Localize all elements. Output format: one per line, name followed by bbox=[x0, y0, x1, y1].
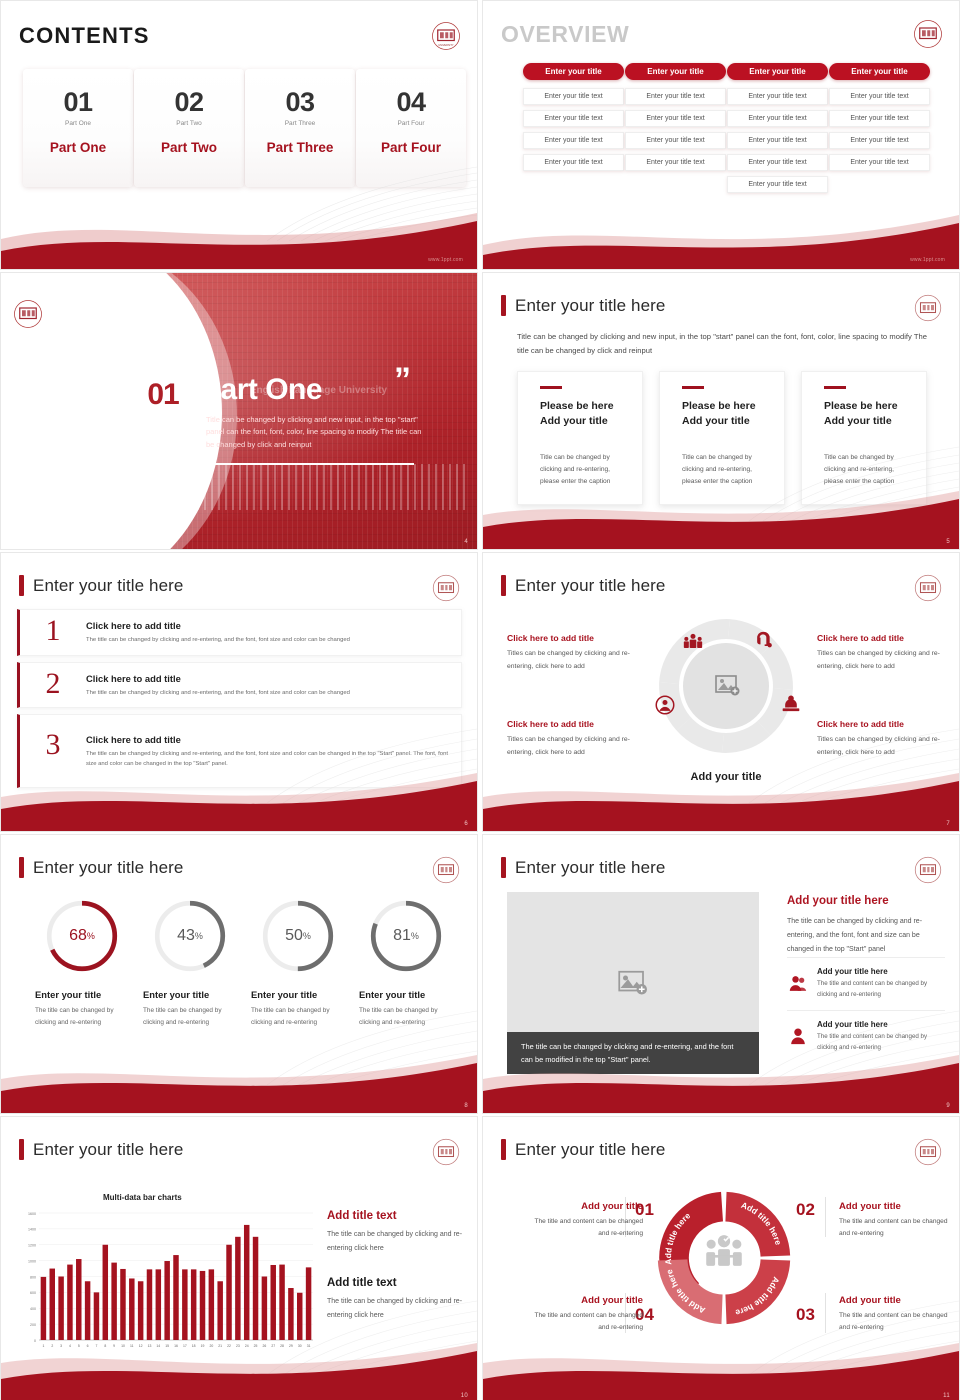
page-title: Enter your title here bbox=[501, 857, 665, 878]
section-title: Part One bbox=[201, 373, 322, 407]
page-title: Enter your title here bbox=[19, 857, 183, 878]
university-seal-icon bbox=[431, 855, 461, 885]
callout-text: The title and content can be changed and… bbox=[525, 1310, 643, 1334]
side-list-heading: Add your title here bbox=[817, 1020, 945, 1029]
svg-text:0: 0 bbox=[34, 1339, 36, 1343]
bar bbox=[76, 1259, 81, 1340]
side-text-1: The title can be changed by clicking and… bbox=[327, 1228, 467, 1255]
title-text: Enter your title here bbox=[515, 1140, 665, 1160]
side-text-2: The title can be changed by clicking and… bbox=[327, 1295, 467, 1322]
card-number: 02 bbox=[174, 89, 203, 116]
list-item[interactable]: 3 Click here to add title The title can … bbox=[17, 714, 462, 788]
lead-paragraph: Title can be changed by clicking and new… bbox=[517, 330, 927, 358]
donut-caption: The title can be changed by clicking and… bbox=[143, 1005, 243, 1028]
bar bbox=[226, 1245, 231, 1340]
svg-text:13: 13 bbox=[148, 1344, 152, 1348]
section-number-badge: 01 bbox=[134, 370, 192, 420]
svg-text:1600: 1600 bbox=[28, 1212, 36, 1216]
card-label: Part One bbox=[50, 140, 106, 155]
bar bbox=[209, 1269, 214, 1340]
column-title-pill[interactable]: Enter your title bbox=[523, 63, 624, 80]
svg-text:3: 3 bbox=[60, 1344, 62, 1348]
card-body: Title can be changed by clicking and re-… bbox=[540, 452, 626, 489]
diagram-callout[interactable]: Click here to add title Titles can be ch… bbox=[507, 633, 647, 673]
card-accent-dash bbox=[540, 386, 562, 389]
bar bbox=[297, 1293, 302, 1340]
university-seal-icon bbox=[913, 855, 943, 885]
svg-text:400: 400 bbox=[30, 1307, 36, 1311]
donut-unit: % bbox=[411, 931, 419, 941]
item-number: 1 bbox=[20, 617, 86, 646]
donut-caption: The title can be changed by clicking and… bbox=[359, 1005, 459, 1028]
card-heading-line1: Please be here bbox=[682, 399, 768, 415]
side-list-item[interactable]: Add your title here The title and conten… bbox=[787, 957, 945, 1010]
page-title: OVERVIEW bbox=[501, 21, 629, 48]
bar bbox=[147, 1269, 152, 1340]
bar bbox=[182, 1269, 187, 1340]
donut-unit: % bbox=[303, 931, 311, 941]
overview-column: Enter your title Enter your title text E… bbox=[727, 63, 828, 193]
bar bbox=[191, 1269, 196, 1340]
overview-column: Enter your title Enter your title text E… bbox=[625, 63, 726, 193]
title-text: Enter your title here bbox=[33, 576, 183, 596]
svg-text:25: 25 bbox=[254, 1344, 258, 1348]
donut-value: 68% bbox=[43, 897, 121, 975]
callout-heading: Click here to add title bbox=[507, 633, 647, 643]
bar bbox=[288, 1288, 293, 1340]
side-heading-1: Add title text bbox=[327, 1210, 467, 1222]
item-heading: Click here to add title bbox=[86, 734, 451, 745]
cycle-callout[interactable]: Add your title The title and content can… bbox=[525, 1295, 643, 1334]
svg-text:1: 1 bbox=[42, 1344, 44, 1348]
card-heading-line2: Add your title bbox=[540, 414, 626, 430]
cycle-number-03: 03 bbox=[796, 1305, 815, 1325]
callout-text: Titles can be changed by clicking and re… bbox=[817, 734, 957, 759]
page-title: Enter your title here bbox=[19, 1139, 183, 1160]
overview-item[interactable]: Enter your title text bbox=[625, 154, 726, 171]
university-seal-icon bbox=[913, 293, 943, 323]
overview-item[interactable]: Enter your title text bbox=[829, 88, 930, 105]
svg-text:16: 16 bbox=[174, 1344, 178, 1348]
university-seal-icon bbox=[913, 1137, 943, 1167]
card-body: Title can be changed by clicking and re-… bbox=[682, 452, 768, 489]
card-heading-line1: Please be here bbox=[824, 399, 910, 415]
title-text: Enter your title here bbox=[33, 858, 183, 878]
bar bbox=[58, 1277, 63, 1341]
chart-side-text: Add title text The title can be changed … bbox=[327, 1210, 467, 1345]
university-seal-icon: UNIVERSITY bbox=[431, 21, 461, 51]
overview-item[interactable]: Enter your title text bbox=[829, 154, 930, 171]
page-number: 8 bbox=[464, 1103, 468, 1109]
underline-rule bbox=[206, 463, 414, 465]
slide-contents: CONTENTS UNIVERSITY 01 Part One Part One… bbox=[0, 0, 478, 270]
bar bbox=[244, 1225, 249, 1340]
side-title: Add your title here bbox=[787, 895, 945, 907]
slide-three-cards: Enter your title here Title can be chang… bbox=[482, 272, 960, 550]
overview-item[interactable]: Enter your title text bbox=[625, 88, 726, 105]
item-text: The title can be changed by clicking and… bbox=[86, 688, 451, 698]
side-lead: The title can be changed by clicking and… bbox=[787, 915, 945, 957]
slide-overview: OVERVIEW Enter your title Enter your tit… bbox=[482, 0, 960, 270]
card-heading-line2: Add your title bbox=[682, 414, 768, 430]
donut-value: 81% bbox=[367, 897, 445, 975]
svg-text:14: 14 bbox=[156, 1344, 160, 1348]
svg-text:27: 27 bbox=[271, 1344, 275, 1348]
campus-photo-background bbox=[57, 273, 477, 549]
contents-card[interactable]: 01 Part One Part One bbox=[23, 69, 133, 187]
image-caption-bar: The title can be changed by clicking and… bbox=[507, 1032, 759, 1074]
decorative-wave bbox=[483, 1329, 959, 1400]
card-number: 04 bbox=[396, 89, 425, 116]
bar bbox=[67, 1265, 72, 1340]
two-people-icon bbox=[787, 967, 809, 1001]
svg-text:30: 30 bbox=[298, 1344, 302, 1348]
donut-caption: The title can be changed by clicking and… bbox=[251, 1005, 351, 1028]
footer-watermark: www.1ppt.com bbox=[428, 257, 463, 263]
donut-chart-group: 68% Enter your title The title can be ch… bbox=[29, 897, 459, 1028]
svg-text:9: 9 bbox=[113, 1344, 115, 1348]
bar bbox=[103, 1245, 108, 1340]
card-label: Part Two bbox=[161, 140, 217, 155]
donut-unit: % bbox=[195, 931, 203, 941]
title-text: Enter your title here bbox=[515, 858, 665, 878]
side-list-heading: Add your title here bbox=[817, 967, 945, 976]
overview-columns: Enter your title Enter your title text E… bbox=[523, 63, 930, 193]
callout-text: The title and content can be changed and… bbox=[839, 1310, 957, 1334]
card-number: 01 bbox=[63, 89, 92, 116]
card-accent-dash bbox=[824, 386, 846, 389]
overview-item[interactable]: Enter your title text bbox=[523, 154, 624, 171]
decorative-wave bbox=[1, 1039, 477, 1113]
card-subtitle: Part Four bbox=[397, 120, 424, 127]
slide-image-and-list: Enter your title here The title can be c… bbox=[482, 834, 960, 1114]
donut-ring: 81% bbox=[367, 897, 445, 975]
bar bbox=[279, 1265, 284, 1340]
overview-column: Enter your title Enter your title text E… bbox=[523, 63, 624, 193]
title-text: Enter your title here bbox=[515, 576, 665, 596]
svg-text:24: 24 bbox=[245, 1344, 249, 1348]
donut-item[interactable]: 81% Enter your title The title can be ch… bbox=[353, 897, 459, 1028]
svg-text:1200: 1200 bbox=[28, 1244, 36, 1248]
donut-unit: % bbox=[87, 931, 95, 941]
bar bbox=[41, 1277, 46, 1340]
title-text: Enter your title here bbox=[515, 296, 665, 316]
diagram-callout[interactable]: Click here to add title Titles can be ch… bbox=[817, 633, 957, 673]
overview-item[interactable]: Enter your title text bbox=[829, 132, 930, 149]
slide-cycle-diagram: Enter your title here bbox=[482, 1116, 960, 1400]
segmented-ring-diagram bbox=[651, 611, 801, 761]
bar bbox=[156, 1269, 161, 1340]
page-number: 6 bbox=[464, 821, 468, 827]
callout-text: The title and content can be changed and… bbox=[525, 1216, 643, 1240]
svg-text:600: 600 bbox=[30, 1291, 36, 1295]
page-number: 5 bbox=[946, 539, 950, 545]
callout-text: Titles can be changed by clicking and re… bbox=[507, 734, 647, 759]
card-number: 03 bbox=[285, 89, 314, 116]
side-heading-2: Add title text bbox=[327, 1277, 467, 1289]
university-seal-icon bbox=[431, 1137, 461, 1167]
diagram-callout[interactable]: Click here to add title Titles can be ch… bbox=[507, 719, 647, 759]
university-seal-icon bbox=[431, 573, 461, 603]
donut-label: Enter your title bbox=[35, 989, 135, 1000]
divider-line bbox=[825, 1197, 826, 1237]
image-placeholder-icon bbox=[618, 970, 648, 996]
decorative-wave bbox=[1, 195, 477, 269]
card-label: Part Four bbox=[381, 140, 441, 155]
cycle-callout[interactable]: Add your title The title and content can… bbox=[525, 1201, 643, 1240]
svg-text:800: 800 bbox=[30, 1275, 36, 1279]
slide-section-divider: English Language University 01 Part One … bbox=[0, 272, 478, 550]
chart-title: Multi-data bar charts bbox=[103, 1193, 182, 1202]
page-title: Enter your title here bbox=[501, 575, 665, 596]
callout-heading: Click here to add title bbox=[507, 719, 647, 729]
decorative-wave bbox=[483, 195, 959, 269]
decorative-wave bbox=[483, 757, 959, 831]
item-heading: Click here to add title bbox=[86, 673, 451, 684]
page-title: Enter your title here bbox=[501, 295, 665, 316]
cycle-arrow-diagram: Add title here Add title here Add title … bbox=[645, 1179, 803, 1337]
university-seal-icon bbox=[913, 573, 943, 603]
svg-text:23: 23 bbox=[236, 1344, 240, 1348]
title-accent-bar bbox=[19, 857, 24, 878]
section-number: 01 bbox=[147, 378, 178, 412]
donut-label: Enter your title bbox=[143, 989, 243, 1000]
slide-circular-diagram: Enter your title here bbox=[482, 552, 960, 832]
overview-item[interactable]: Enter your title text bbox=[625, 110, 726, 127]
svg-text:UNIVERSITY: UNIVERSITY bbox=[438, 43, 454, 47]
page-number: 4 bbox=[464, 539, 468, 545]
callout-text: The title and content can be changed and… bbox=[839, 1216, 957, 1240]
svg-text:6: 6 bbox=[87, 1344, 89, 1348]
svg-text:200: 200 bbox=[30, 1323, 36, 1327]
donut-number: 81 bbox=[393, 927, 411, 945]
bar bbox=[270, 1265, 275, 1340]
svg-text:5: 5 bbox=[78, 1344, 80, 1348]
svg-text:17: 17 bbox=[183, 1344, 187, 1348]
university-seal-icon bbox=[913, 19, 943, 49]
overview-item[interactable]: Enter your title text bbox=[829, 110, 930, 127]
svg-text:1000: 1000 bbox=[28, 1259, 36, 1263]
overview-item[interactable]: Enter your title text bbox=[727, 154, 828, 171]
donut-number: 68 bbox=[69, 927, 87, 945]
column-title-pill[interactable]: Enter your title bbox=[829, 63, 930, 80]
bar bbox=[50, 1269, 55, 1340]
svg-text:20: 20 bbox=[209, 1344, 213, 1348]
page-number: 9 bbox=[946, 1103, 950, 1109]
university-seal-icon bbox=[13, 299, 43, 329]
donut-item[interactable]: 50% Enter your title The title can be ch… bbox=[245, 897, 351, 1028]
overview-item[interactable]: Enter your title text bbox=[727, 132, 828, 149]
single-person-icon bbox=[787, 1020, 809, 1054]
bar bbox=[94, 1292, 99, 1340]
svg-text:10: 10 bbox=[121, 1344, 125, 1348]
donut-value: 43% bbox=[151, 897, 229, 975]
svg-text:31: 31 bbox=[307, 1344, 311, 1348]
item-body: Click here to add title The title can be… bbox=[86, 731, 451, 769]
callout-text: Titles can be changed by clicking and re… bbox=[507, 648, 647, 673]
side-panel: Add your title here The title can be cha… bbox=[787, 895, 945, 1062]
card-heading-line1: Please be here bbox=[540, 399, 626, 415]
donut-number: 43 bbox=[177, 927, 195, 945]
bar bbox=[173, 1255, 178, 1340]
page-title: Enter your title here bbox=[19, 575, 183, 596]
bar bbox=[217, 1281, 222, 1340]
contents-card[interactable]: 04 Part Four Part Four bbox=[356, 69, 466, 187]
feature-card[interactable]: Please be here Add your title Title can … bbox=[659, 371, 785, 505]
quote-mark-icon: ” bbox=[394, 367, 411, 394]
callout-heading: Add your title bbox=[525, 1201, 643, 1212]
side-list-text: The title and content can be changed by … bbox=[817, 979, 945, 1001]
overview-item[interactable]: Enter your title text bbox=[625, 132, 726, 149]
cycle-number-02: 02 bbox=[796, 1200, 815, 1220]
cycle-callout[interactable]: Add your title The title and content can… bbox=[839, 1295, 957, 1334]
bar bbox=[253, 1237, 258, 1340]
svg-text:22: 22 bbox=[227, 1344, 231, 1348]
bar bbox=[111, 1263, 116, 1340]
side-list-body: Add your title here The title and conten… bbox=[817, 967, 945, 1001]
person-circle-icon bbox=[655, 695, 675, 715]
card-row: Please be here Add your title Title can … bbox=[517, 371, 927, 505]
title-accent-bar bbox=[19, 1139, 24, 1160]
svg-text:1400: 1400 bbox=[28, 1228, 36, 1232]
svg-text:8: 8 bbox=[104, 1344, 106, 1348]
bar bbox=[235, 1237, 240, 1340]
title-accent-bar bbox=[501, 295, 506, 316]
donut-item[interactable]: 43% Enter your title The title can be ch… bbox=[137, 897, 243, 1028]
item-number: 3 bbox=[20, 731, 86, 760]
callout-heading: Click here to add title bbox=[817, 719, 957, 729]
list-item[interactable]: 1 Click here to add title The title can … bbox=[17, 609, 462, 656]
callout-heading: Click here to add title bbox=[817, 633, 957, 643]
footer-watermark: www.1ppt.com bbox=[910, 257, 945, 263]
donut-item[interactable]: 68% Enter your title The title can be ch… bbox=[29, 897, 135, 1028]
card-subtitle: Part One bbox=[65, 120, 91, 127]
item-text: The title can be changed by clicking and… bbox=[86, 749, 451, 769]
divider-line bbox=[825, 1293, 826, 1333]
title-accent-bar bbox=[19, 575, 24, 596]
overview-item[interactable]: Enter your title text bbox=[523, 88, 624, 105]
page-number: 11 bbox=[943, 1393, 950, 1399]
item-body: Click here to add title The title can be… bbox=[86, 670, 451, 698]
section-description: Title can be changed by clicking and new… bbox=[206, 414, 424, 451]
slide-deck: CONTENTS UNIVERSITY 01 Part One Part One… bbox=[0, 0, 960, 1400]
overview-item[interactable]: Enter your title text bbox=[727, 110, 828, 127]
svg-text:26: 26 bbox=[262, 1344, 266, 1348]
donut-caption: The title can be changed by clicking and… bbox=[35, 1005, 135, 1028]
page-number: 10 bbox=[461, 1393, 468, 1399]
slide-numbered-list: Enter your title here 1 Click here to ad… bbox=[0, 552, 478, 832]
person-desk-icon bbox=[781, 695, 801, 715]
item-number: 2 bbox=[20, 670, 86, 699]
svg-text:12: 12 bbox=[139, 1344, 143, 1348]
bar bbox=[85, 1281, 90, 1340]
title-accent-bar bbox=[501, 1139, 506, 1160]
cycle-callout[interactable]: Add your title The title and content can… bbox=[839, 1201, 957, 1240]
svg-text:11: 11 bbox=[130, 1344, 134, 1348]
card-label: Part Three bbox=[267, 140, 334, 155]
diagram-caption: Add your title bbox=[643, 771, 809, 783]
donut-label: Enter your title bbox=[359, 989, 459, 1000]
title-text: Enter your title here bbox=[33, 1140, 183, 1160]
card-accent-dash bbox=[682, 386, 704, 389]
svg-text:15: 15 bbox=[165, 1344, 169, 1348]
slide-percentage-donuts: Enter your title here 68% Enter your tit… bbox=[0, 834, 478, 1114]
card-subtitle: Part Three bbox=[285, 120, 316, 127]
donut-number: 50 bbox=[285, 927, 303, 945]
donut-ring: 50% bbox=[259, 897, 337, 975]
svg-text:28: 28 bbox=[280, 1344, 284, 1348]
bar bbox=[138, 1281, 143, 1340]
overview-item[interactable]: Enter your title text bbox=[727, 88, 828, 105]
item-text: The title can be changed by clicking and… bbox=[86, 635, 451, 645]
callout-heading: Add your title bbox=[839, 1201, 957, 1212]
bar bbox=[306, 1267, 311, 1340]
title-accent-bar bbox=[501, 857, 506, 878]
bar bbox=[262, 1277, 267, 1341]
feature-card[interactable]: Please be here Add your title Title can … bbox=[517, 371, 643, 505]
overview-item[interactable]: Enter your title text bbox=[523, 110, 624, 127]
column-title-pill[interactable]: Enter your title bbox=[727, 63, 828, 80]
svg-text:4: 4 bbox=[69, 1344, 71, 1348]
callout-heading: Add your title bbox=[525, 1295, 643, 1306]
svg-text:19: 19 bbox=[201, 1344, 205, 1348]
callout-heading: Add your title bbox=[839, 1295, 957, 1306]
page-number: 7 bbox=[946, 821, 950, 827]
bar bbox=[120, 1269, 125, 1340]
page-title: Enter your title here bbox=[501, 1139, 665, 1160]
card-body: Title can be changed by clicking and re-… bbox=[824, 452, 910, 489]
group-people-icon bbox=[683, 633, 703, 651]
bar bbox=[129, 1278, 134, 1340]
callout-text: Titles can be changed by clicking and re… bbox=[817, 648, 957, 673]
donut-value: 50% bbox=[259, 897, 337, 975]
person-headset-icon bbox=[753, 631, 773, 651]
svg-text:21: 21 bbox=[218, 1344, 222, 1348]
feature-card[interactable]: Please be here Add your title Title can … bbox=[801, 371, 927, 505]
side-list-body: Add your title here The title and conten… bbox=[817, 1020, 945, 1054]
overview-column: Enter your title Enter your title text E… bbox=[829, 63, 930, 193]
donut-ring: 68% bbox=[43, 897, 121, 975]
svg-text:7: 7 bbox=[96, 1344, 98, 1348]
page-title: CONTENTS bbox=[19, 23, 150, 49]
item-body: Click here to add title The title can be… bbox=[86, 617, 451, 645]
svg-text:18: 18 bbox=[192, 1344, 196, 1348]
list-item[interactable]: 2 Click here to add title The title can … bbox=[17, 662, 462, 709]
title-accent-bar bbox=[501, 575, 506, 596]
contents-card[interactable]: 03 Part Three Part Three bbox=[245, 69, 355, 187]
overview-item[interactable]: Enter your title text bbox=[523, 132, 624, 149]
bar bbox=[200, 1271, 205, 1340]
bar-chart-plot: 0200400600800100012001400160012345678910… bbox=[17, 1209, 317, 1354]
bar bbox=[164, 1261, 169, 1340]
side-list-item[interactable]: Add your title here The title and conten… bbox=[787, 1010, 945, 1063]
svg-text:2: 2 bbox=[51, 1344, 53, 1348]
diagram-callout[interactable]: Click here to add title Titles can be ch… bbox=[817, 719, 957, 759]
item-heading: Click here to add title bbox=[86, 620, 451, 631]
donut-ring: 43% bbox=[151, 897, 229, 975]
donut-label: Enter your title bbox=[251, 989, 351, 1000]
overview-item[interactable]: Enter your title text bbox=[727, 176, 828, 193]
card-subtitle: Part Two bbox=[176, 120, 202, 127]
slide-bar-chart: Enter your title here Multi-data bar cha… bbox=[0, 1116, 478, 1400]
svg-text:29: 29 bbox=[289, 1344, 293, 1348]
numbered-list: 1 Click here to add title The title can … bbox=[17, 609, 462, 794]
contents-card-list: 01 Part One Part One 02 Part Two Part Tw… bbox=[23, 69, 466, 187]
card-heading-line2: Add your title bbox=[824, 414, 910, 430]
column-title-pill[interactable]: Enter your title bbox=[625, 63, 726, 80]
contents-card[interactable]: 02 Part Two Part Two bbox=[134, 69, 244, 187]
side-list-text: The title and content can be changed by … bbox=[817, 1032, 945, 1054]
